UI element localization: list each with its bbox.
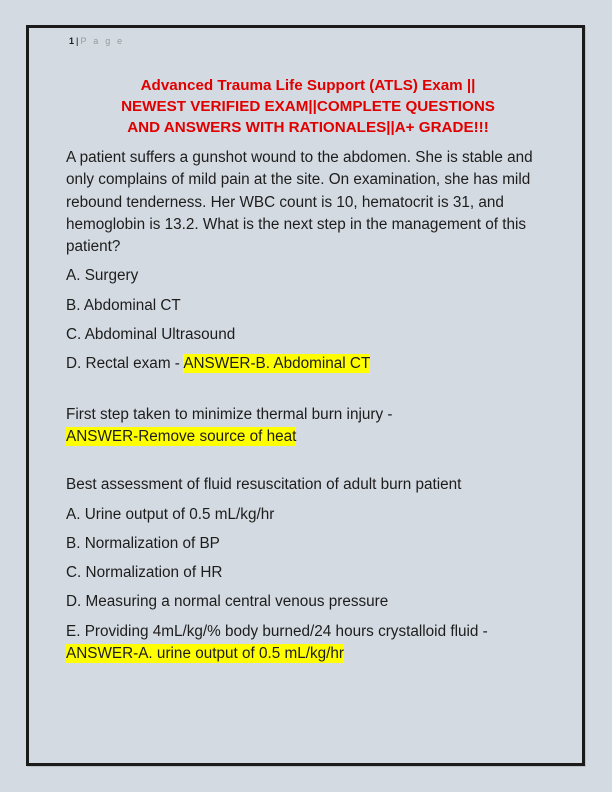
document-content: Advanced Trauma Life Support (ATLS) Exam… — [66, 75, 550, 672]
answer-highlight: ANSWER-A. urine output of 0.5 mL/kg/hr — [66, 644, 344, 663]
page-header-label: P a g e — [81, 36, 125, 46]
document-title-line-3: AND ANSWERS WITH RATIONALES||A+ GRADE!!! — [70, 117, 546, 138]
document-page-frame: 1|P a g e Advanced Trauma Life Support (… — [26, 25, 585, 766]
answer-option: A. Surgery — [66, 265, 550, 287]
answer-option-text: E. Providing 4mL/kg/% body burned/24 hou… — [66, 623, 488, 640]
answer-option: C. Abdominal Ultrasound — [66, 324, 550, 346]
document-title-line-2: NEWEST VERIFIED EXAM||COMPLETE QUESTIONS — [70, 96, 546, 117]
answer-highlight: ANSWER-B. Abdominal CT — [183, 354, 370, 373]
document-title-line-1: Advanced Trauma Life Support (ATLS) Exam… — [70, 75, 546, 96]
question-stem-text: First step taken to minimize thermal bur… — [66, 406, 392, 423]
answer-option-with-answer: D. Rectal exam - ANSWER-B. Abdominal CT — [66, 353, 550, 375]
block-spacer — [66, 383, 550, 404]
document-title: Advanced Trauma Life Support (ATLS) Exam… — [66, 75, 550, 138]
page-header: 1|P a g e — [69, 36, 124, 46]
answer-option: B. Normalization of BP — [66, 533, 550, 555]
answer-option: A. Urine output of 0.5 mL/kg/hr — [66, 504, 550, 526]
answer-highlight: ANSWER-Remove source of heat — [66, 427, 296, 446]
question-stem: Best assessment of fluid resuscitation o… — [66, 474, 550, 496]
question-stem-with-answer: First step taken to minimize thermal bur… — [66, 404, 550, 449]
answer-option-text: D. Rectal exam - — [66, 355, 183, 372]
block-spacer — [66, 455, 550, 474]
question-stem: A patient suffers a gunshot wound to the… — [66, 147, 550, 258]
answer-option: D. Measuring a normal central venous pre… — [66, 591, 550, 613]
answer-option: B. Abdominal CT — [66, 295, 550, 317]
answer-option: C. Normalization of HR — [66, 562, 550, 584]
answer-option-with-answer: E. Providing 4mL/kg/% body burned/24 hou… — [66, 621, 550, 666]
